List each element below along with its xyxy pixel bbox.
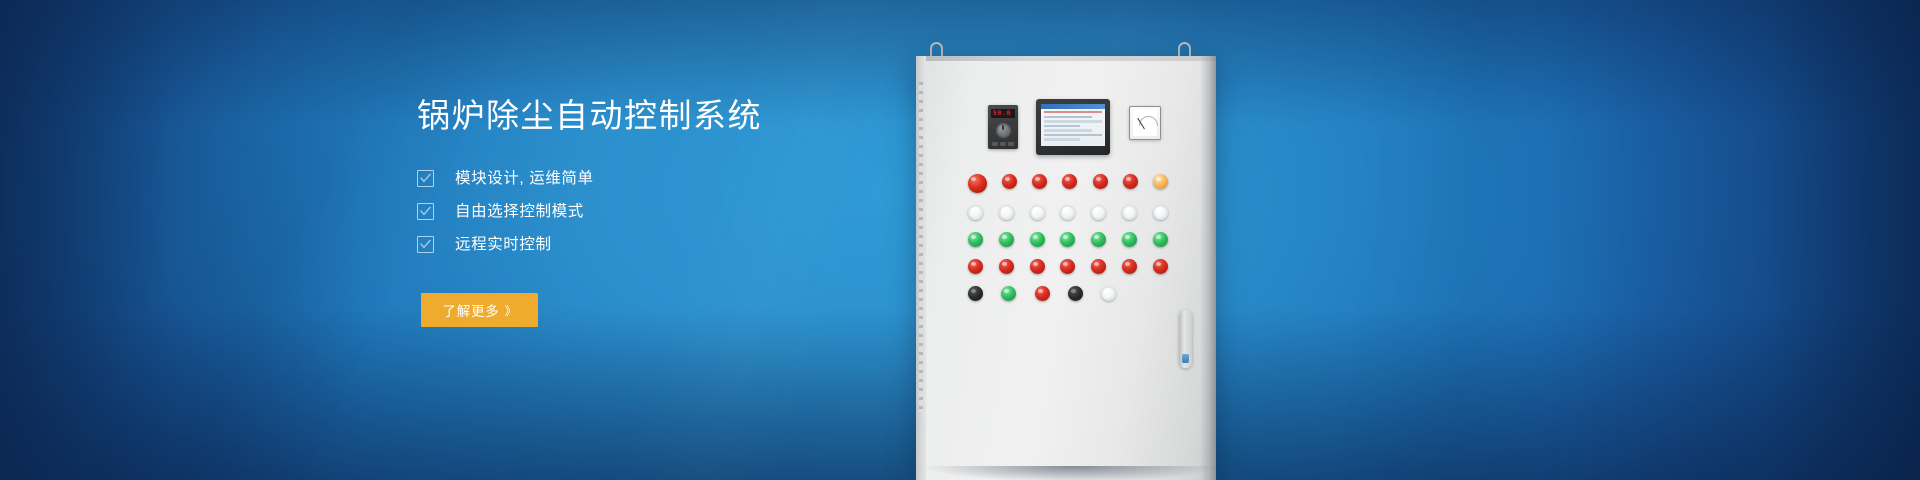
hmi-touchscreen [1036, 99, 1110, 155]
feature-item: 模块设计, 运维简单 [417, 162, 937, 195]
indicator-lamp-green[interactable] [1122, 232, 1137, 247]
vfd-display: 50.0 [991, 109, 1015, 118]
hmi-row [1044, 116, 1092, 118]
pushbutton-white[interactable] [1101, 286, 1116, 301]
indicator-lamp-green[interactable] [999, 232, 1014, 247]
feature-label: 模块设计, 运维简单 [455, 169, 594, 189]
indicator-lamp-green[interactable] [1030, 232, 1045, 247]
check-square-icon [417, 170, 434, 187]
hmi-row [1044, 125, 1080, 127]
indicator-lamp-white[interactable] [1060, 205, 1075, 220]
hmi-row [1044, 134, 1102, 136]
indicator-lamp-red[interactable] [1002, 174, 1017, 189]
pushbutton-black[interactable] [968, 286, 983, 301]
indicator-lamp-red[interactable] [1032, 174, 1047, 189]
pushbutton-green[interactable] [1001, 286, 1016, 301]
cabinet-right-edge [1200, 56, 1216, 480]
hmi-row [1044, 138, 1080, 140]
hmi-content-rows [1041, 109, 1105, 145]
analog-gauge [1129, 106, 1161, 140]
indicator-lamp-red[interactable] [1091, 259, 1106, 274]
lamp-row [968, 286, 1116, 301]
chevron-right-icon: 》 [505, 302, 517, 319]
indicator-lamp-white[interactable] [999, 205, 1014, 220]
indicator-lamp-white[interactable] [1030, 205, 1045, 220]
lamp-row [968, 174, 1168, 193]
hmi-row [1044, 120, 1102, 122]
check-square-icon [417, 236, 434, 253]
indicator-lamp-red[interactable] [1153, 259, 1168, 274]
cabinet-lock-icon[interactable] [1182, 354, 1189, 363]
cabinet-hinge-strip [916, 56, 926, 480]
cabinet-top-lip [916, 56, 1216, 61]
indicator-lamp-green[interactable] [1153, 232, 1168, 247]
gauge-face [1133, 110, 1157, 136]
check-square-icon [417, 203, 434, 220]
hmi-row [1044, 129, 1092, 131]
indicator-lamp-red[interactable] [968, 174, 987, 193]
control-cabinet: 50.0 [916, 56, 1216, 480]
feature-item: 自由选择控制模式 [417, 195, 937, 228]
page-title: 锅炉除尘自动控制系统 [417, 96, 937, 136]
indicator-lamp-red[interactable] [1123, 174, 1138, 189]
lamp-row [968, 205, 1168, 220]
indicator-lamp-red[interactable] [1122, 259, 1137, 274]
hmi-row [1044, 111, 1102, 113]
feature-list: 模块设计, 运维简单 自由选择控制模式 远程实时控制 [417, 162, 937, 261]
indicator-lamp-red[interactable] [1062, 174, 1077, 189]
cabinet-hinge-dots [919, 82, 923, 412]
indicator-lamp-green[interactable] [1091, 232, 1106, 247]
feature-label: 远程实时控制 [455, 235, 552, 255]
indicator-lamp-white[interactable] [968, 205, 983, 220]
indicator-lamp-green[interactable] [1060, 232, 1075, 247]
vfd-keypad-module: 50.0 [988, 105, 1018, 149]
learn-more-label: 了解更多 [442, 300, 499, 320]
indicator-lamp-green[interactable] [968, 232, 983, 247]
indicator-lamp-grid [968, 174, 1168, 313]
cabinet-ground-shadow [926, 466, 1218, 480]
vfd-button [1008, 142, 1014, 146]
lamp-row [968, 259, 1168, 274]
indicator-lamp-red[interactable] [1030, 259, 1045, 274]
indicator-lamp-red[interactable] [999, 259, 1014, 274]
indicator-lamp-red[interactable] [1060, 259, 1075, 274]
indicator-lamp-white[interactable] [1091, 205, 1106, 220]
indicator-lamp-red[interactable] [968, 259, 983, 274]
vfd-button [1000, 142, 1006, 146]
feature-label: 自由选择控制模式 [455, 202, 584, 222]
indicator-lamp-red[interactable] [1093, 174, 1108, 189]
hmi-screen [1041, 104, 1105, 146]
indicator-lamp-amber[interactable] [1153, 174, 1168, 189]
vfd-display-value: 50.0 [993, 111, 1011, 117]
banner-text-block: 锅炉除尘自动控制系统 模块设计, 运维简单 自由选择控制模式 [417, 96, 937, 327]
vfd-rotary-knob-icon [996, 123, 1011, 138]
learn-more-button[interactable]: 了解更多 》 [421, 293, 538, 327]
pushbutton-red[interactable] [1035, 286, 1050, 301]
cabinet-door-handle[interactable] [1179, 310, 1192, 368]
pushbutton-black[interactable] [1068, 286, 1083, 301]
indicator-lamp-white[interactable] [1122, 205, 1137, 220]
hero-banner: 锅炉除尘自动控制系统 模块设计, 运维简单 自由选择控制模式 [0, 0, 1920, 480]
lamp-row [968, 232, 1168, 247]
control-cabinet-photo: 50.0 [900, 0, 1320, 480]
feature-item: 远程实时控制 [417, 228, 937, 261]
indicator-lamp-white[interactable] [1153, 205, 1168, 220]
vfd-button [992, 142, 998, 146]
